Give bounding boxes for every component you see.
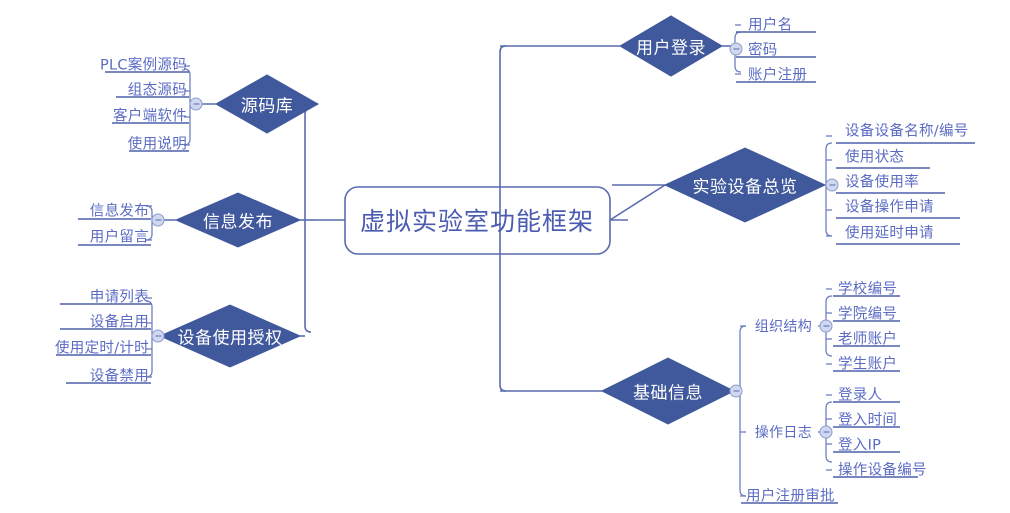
leaf-usage-timer[interactable]: 使用定时/计时 xyxy=(55,337,149,358)
connector-center-to-equipment xyxy=(610,185,665,220)
leaf-usage-extension-request[interactable]: 使用延时申请 xyxy=(845,222,934,243)
leaf-operated-device-number[interactable]: 操作设备编号 xyxy=(838,459,927,480)
subnode-org-structure[interactable]: 组织结构 xyxy=(755,316,812,336)
collapse-toggle-login[interactable] xyxy=(730,43,743,56)
leaf-password[interactable]: 密码 xyxy=(748,39,778,60)
collapse-toggle-org-structure[interactable] xyxy=(820,320,833,333)
collapse-toggle-equipment[interactable] xyxy=(826,179,839,192)
collapse-toggle-sourcecode[interactable] xyxy=(190,98,203,111)
subnode-operation-log[interactable]: 操作日志 xyxy=(755,422,812,442)
node-label-login: 用户登录 xyxy=(636,34,706,59)
leaf-login-person[interactable]: 登录人 xyxy=(838,384,882,405)
leaf-teacher-account[interactable]: 老师账户 xyxy=(838,328,897,349)
leaf-device-disable[interactable]: 设备禁用 xyxy=(90,365,149,386)
node-label-infopublish: 信息发布 xyxy=(203,208,273,233)
collapse-toggle-operation-log[interactable] xyxy=(820,426,833,439)
leaf-user-register-approval[interactable]: 用户注册审批 xyxy=(746,485,835,506)
leaf-login-ip[interactable]: 登入IP xyxy=(838,434,881,455)
leaf-device-name-number[interactable]: 设备设备名称/编号 xyxy=(845,120,969,141)
leaf-account-register[interactable]: 账户注册 xyxy=(748,64,807,85)
leaf-device-utilization[interactable]: 设备使用率 xyxy=(845,171,919,192)
leaf-config-source[interactable]: 组态源码 xyxy=(128,79,187,100)
leaf-usage-status[interactable]: 使用状态 xyxy=(845,146,904,167)
leaf-application-list[interactable]: 申请列表 xyxy=(90,286,149,307)
leaf-plc-case-source[interactable]: PLC案例源码 xyxy=(100,54,187,75)
mindmap-canvas: 虚拟实验室功能框架 源码库 PLC案例源码 组态源码 客户端软件 使用说明 信息… xyxy=(0,0,1010,513)
collapse-toggle-devauth[interactable] xyxy=(152,330,165,343)
leaf-device-operation-request[interactable]: 设备操作申请 xyxy=(845,196,934,217)
leaf-device-enable[interactable]: 设备启用 xyxy=(90,311,149,332)
leaf-usage-manual[interactable]: 使用说明 xyxy=(128,133,187,154)
leaf-user-message[interactable]: 用户留言 xyxy=(90,226,149,247)
leaf-client-software[interactable]: 客户端软件 xyxy=(113,105,187,126)
leaf-college-number[interactable]: 学院编号 xyxy=(838,303,897,324)
node-label-devauth: 设备使用授权 xyxy=(178,324,283,349)
leaf-student-account[interactable]: 学生账户 xyxy=(838,353,897,374)
leaf-school-number[interactable]: 学校编号 xyxy=(838,278,897,299)
collapse-toggle-baseinfo[interactable] xyxy=(730,385,743,398)
leaf-login-time[interactable]: 登入时间 xyxy=(838,409,897,430)
center-node-label: 虚拟实验室功能框架 xyxy=(360,202,594,238)
node-label-sourcecode: 源码库 xyxy=(241,92,294,117)
node-label-equipment: 实验设备总览 xyxy=(693,173,798,198)
leaf-username[interactable]: 用户名 xyxy=(748,14,792,35)
leaf-info-release[interactable]: 信息发布 xyxy=(90,200,149,221)
collapse-toggle-infopublish[interactable] xyxy=(152,214,165,227)
baseinfo-children-spine xyxy=(740,326,746,496)
node-label-baseinfo: 基础信息 xyxy=(633,379,703,404)
